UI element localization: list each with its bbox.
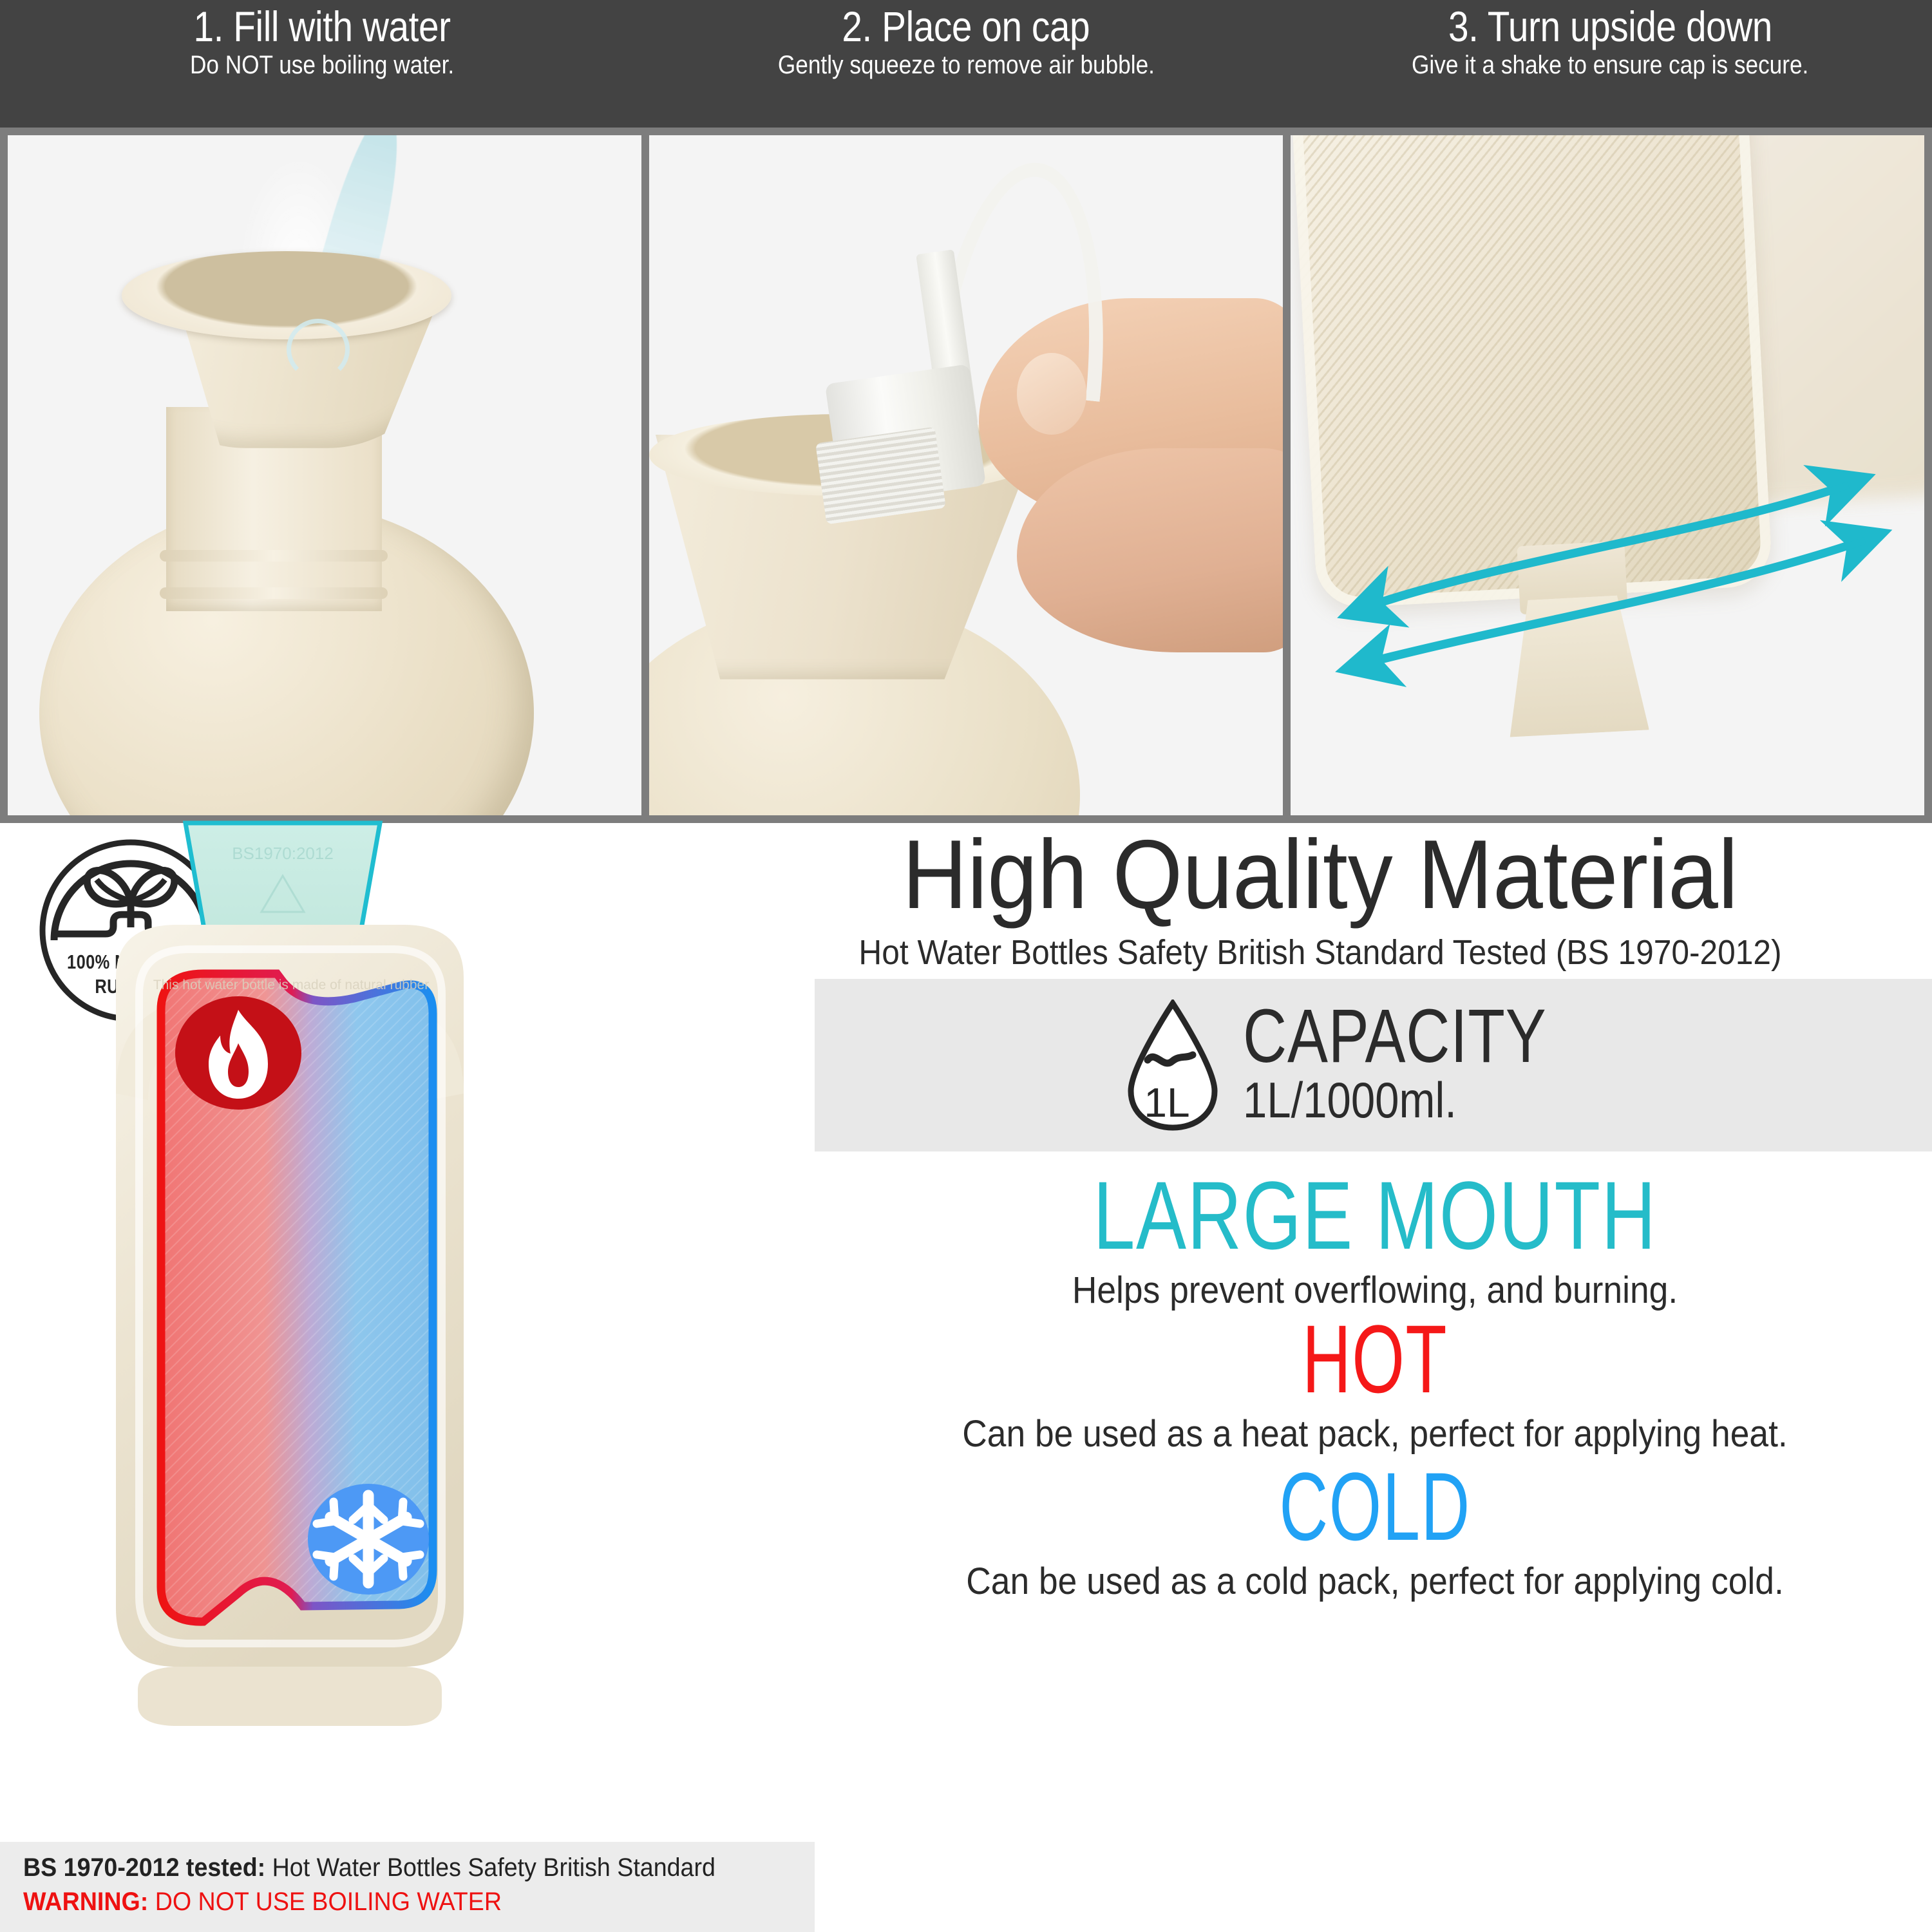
- step-photo-3: [1291, 135, 1924, 815]
- capacity-band: 1L CAPACITY 1L/1000ml.: [815, 979, 1932, 1151]
- bottle-mouth-rim: [122, 251, 451, 339]
- feature-cold-body: Can be used as a cold pack, perfect for …: [862, 1561, 1888, 1603]
- bottle-neck-ring-1: [160, 550, 388, 562]
- bottle-illustration: BS1970:2012: [77, 817, 502, 1847]
- cap-thread: [815, 426, 946, 524]
- bottle-emboss-text: This hot water bottle is made of natural…: [153, 978, 429, 992]
- water-splash: [287, 319, 350, 380]
- steps-header: 1. Fill with water Do NOT use boiling wa…: [0, 0, 1932, 128]
- step-header-1: 1. Fill with water Do NOT use boiling wa…: [0, 0, 644, 128]
- feature-cold-heading: COLD: [985, 1462, 1765, 1551]
- main-content: 100% NATURAL RUBBER: [0, 823, 1932, 1932]
- footer-bar: BS 1970-2012 tested: Hot Water Bottles S…: [0, 1842, 815, 1932]
- step-photo-2: [649, 135, 1283, 815]
- svg-text:BS1970:2012: BS1970:2012: [232, 844, 334, 863]
- step-header-3: 3. Turn upside down Give it a shake to e…: [1288, 0, 1932, 128]
- bottle-bottom-flange: [138, 1667, 442, 1726]
- cold-snowflake-badge: [308, 1484, 429, 1595]
- feature-large-mouth-heading: LARGE MOUTH: [940, 1171, 1809, 1260]
- footer-warning-text: DO NOT USE BOILING WATER: [148, 1888, 502, 1916]
- step-header-2: 2. Place on cap Gently squeeze to remove…: [644, 0, 1288, 128]
- infographic-page: 1. Fill with water Do NOT use boiling wa…: [0, 0, 1932, 1932]
- step-2-title: 2. Place on cap: [842, 5, 1090, 48]
- footer-standard-label: BS 1970-2012 tested:: [23, 1853, 265, 1882]
- step-3-subtitle: Give it a shake to ensure cap is secure.: [1412, 52, 1808, 79]
- drop-capacity-label: 1L: [1144, 1079, 1189, 1126]
- step-photo-1: [8, 135, 641, 815]
- page-title: High Quality Material: [763, 827, 1877, 923]
- shake-arrows-icon: [1291, 135, 1924, 815]
- features-column: LARGE MOUTH Helps prevent overflowing, a…: [818, 1171, 1932, 1603]
- fingernail: [1017, 353, 1086, 435]
- footer-standard-line: BS 1970-2012 tested: Hot Water Bottles S…: [23, 1853, 767, 1882]
- feature-hot-heading: HOT: [985, 1314, 1765, 1403]
- feature-hot-body: Can be used as a heat pack, perfect for …: [862, 1414, 1888, 1455]
- step-3-title: 3. Turn upside down: [1448, 5, 1772, 48]
- capacity-title: CAPACITY: [1243, 1003, 1546, 1070]
- step-photo-strip: [0, 128, 1932, 823]
- footer-warning-line: WARNING: DO NOT USE BOILING WATER: [23, 1888, 767, 1917]
- footer-warning-label: WARNING:: [23, 1888, 148, 1916]
- hot-flame-badge: [175, 996, 301, 1110]
- capacity-value: 1L/1000ml.: [1243, 1074, 1457, 1127]
- page-subtitle: Hot Water Bottles Safety British Standar…: [763, 933, 1877, 972]
- bottle-mouth-highlight: [185, 823, 380, 933]
- step-1-subtitle: Do NOT use boiling water.: [190, 52, 454, 79]
- bottle-neck-ring-2: [160, 587, 388, 599]
- footer-standard-text: Hot Water Bottles Safety British Standar…: [265, 1853, 715, 1882]
- water-drop-icon: 1L: [1124, 999, 1221, 1132]
- step-2-subtitle: Gently squeeze to remove air bubble.: [777, 52, 1154, 79]
- step-1-title: 1. Fill with water: [193, 5, 450, 48]
